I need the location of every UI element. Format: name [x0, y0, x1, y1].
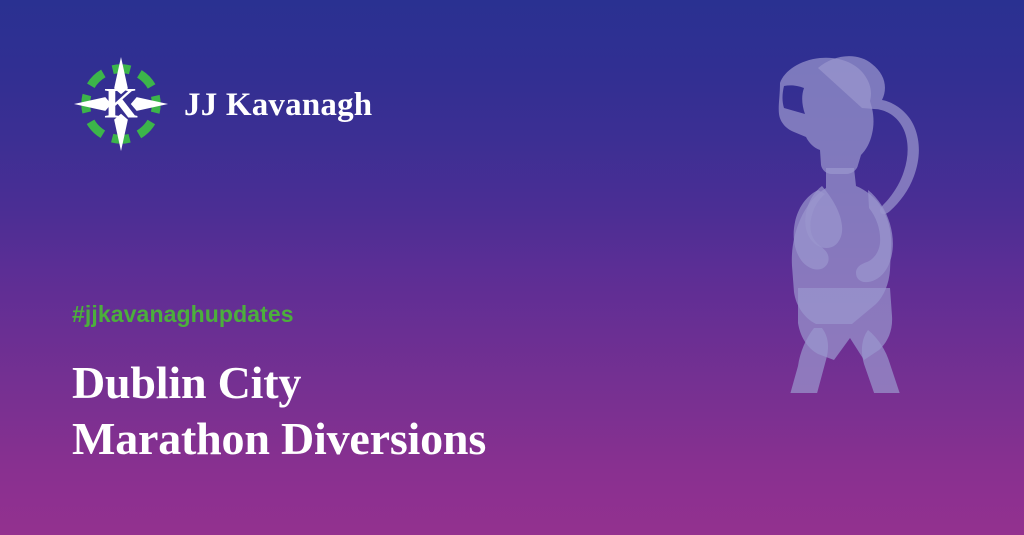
brand-name-text: JJ Kavanagh — [184, 89, 372, 122]
compass-center-letter: K — [104, 81, 138, 128]
compass-rose-icon: K — [72, 55, 170, 153]
brand-logo[interactable]: K JJ Kavanagh — [72, 55, 372, 153]
female-runner-silhouette — [722, 38, 972, 393]
promo-banner: K JJ Kavanagh #jjkavanaghupdates Dublin … — [0, 0, 1024, 535]
headline-block: #jjkavanaghupdates Dublin City Marathon … — [72, 300, 712, 467]
page-title-line-1: Dublin City — [72, 355, 712, 411]
page-title: Dublin City Marathon Diversions — [72, 355, 712, 467]
hashtag-label: #jjkavanaghupdates — [72, 300, 712, 329]
page-title-line-2: Marathon Diversions — [72, 411, 712, 467]
